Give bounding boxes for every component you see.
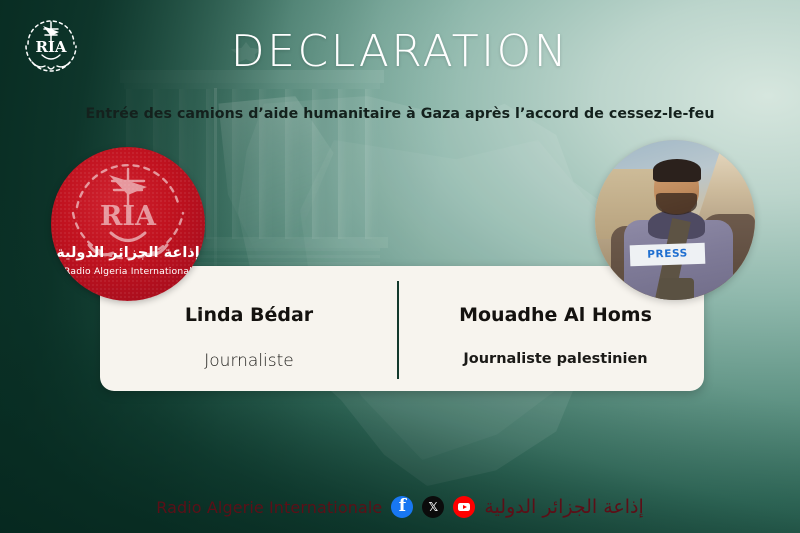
photo-press-label: PRESS	[630, 243, 706, 266]
photo-pouch	[659, 278, 694, 300]
guest-photo: PRESS	[595, 140, 755, 300]
x-twitter-icon[interactable]: 𝕏	[422, 496, 444, 518]
press-text: PRESS	[647, 248, 688, 261]
badge-arabic-name: إذاعة الجزائر الدولية	[51, 245, 205, 261]
x-glyph: 𝕏	[429, 501, 439, 513]
svg-text:RIA: RIA	[100, 201, 157, 232]
footer-bar: Radio Algerie Internationale f 𝕏 إذاعة ا…	[0, 496, 800, 518]
badge-english-name: Radio Algeria International	[51, 266, 205, 277]
person-role: Journaliste palestinien	[407, 351, 704, 367]
person-name: Linda Bédar	[100, 304, 398, 326]
person-name: Mouadhe Al Homs	[407, 304, 704, 326]
youtube-icon[interactable]	[453, 496, 475, 518]
footer-name-french: Radio Algerie Internationale	[156, 498, 382, 517]
subtitle: Entrée des camions d’aide humanitaire à …	[0, 106, 800, 122]
photo-hair	[653, 159, 701, 181]
youtube-play-glyph	[458, 503, 470, 512]
facebook-icon[interactable]: f	[391, 496, 413, 518]
page-title: DECLARATION	[0, 30, 800, 74]
declaration-graphic: RIA DECLARATION Entrée des camions d’aid…	[0, 0, 800, 533]
facebook-glyph: f	[399, 498, 406, 515]
person-role: Journaliste	[100, 351, 398, 371]
ria-logo-badge: RIA إذاعة الجزائر الدولية Radio Algeria …	[51, 147, 205, 301]
footer-name-arabic: إذاعة الجزائر الدولية	[484, 496, 643, 518]
